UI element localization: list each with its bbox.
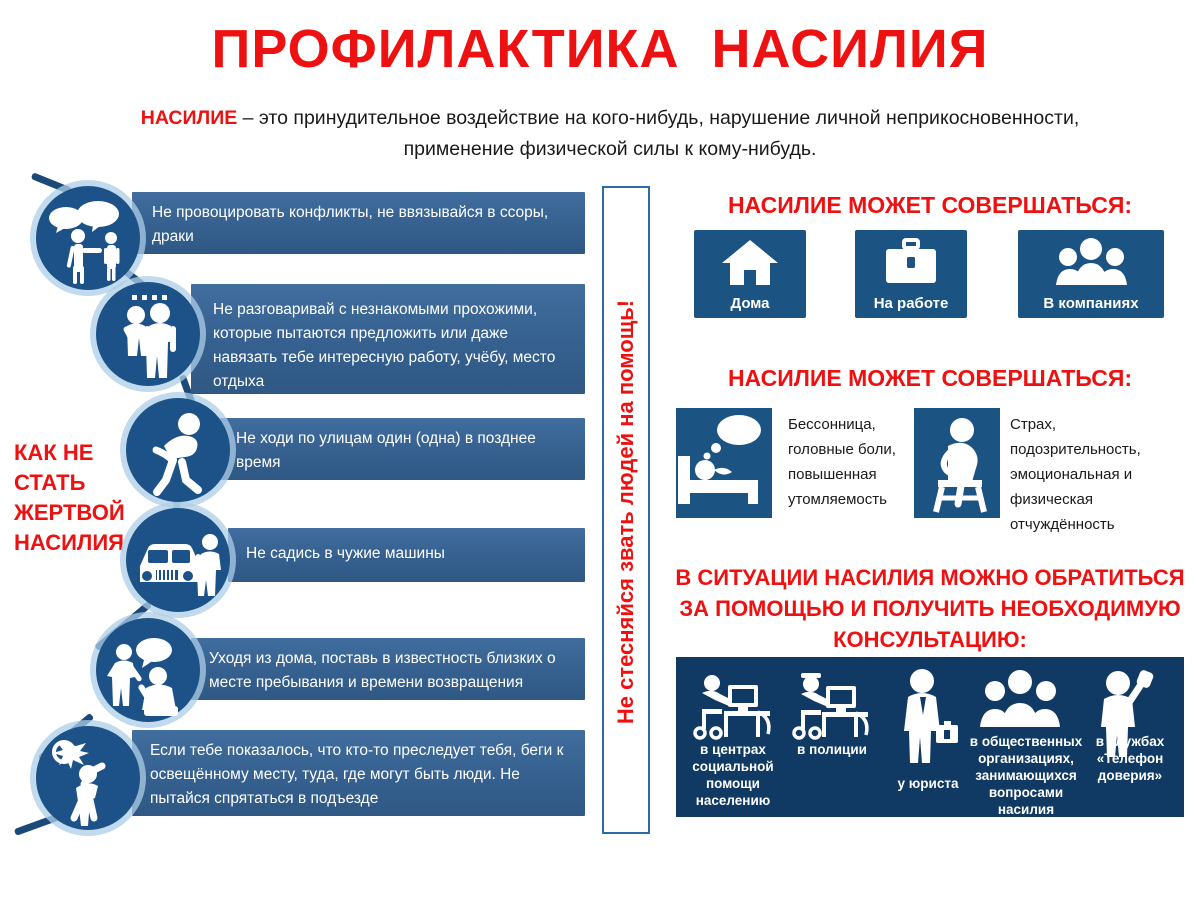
step-text-5: Уходя из дома, поставь в известность бли…: [209, 647, 571, 695]
help-label-social-center: в центрах социальной помощи населению: [682, 741, 784, 809]
step-text-1: Не провоцировать конфликты, не ввязывайс…: [152, 201, 571, 249]
help-channels-panel: в центрах социальной помощи населению в: [676, 657, 1184, 817]
intro-paragraph: НАСИЛИЕ – это принудительное воздействие…: [120, 103, 1100, 165]
night-walk-icon: [126, 398, 230, 502]
place-label-company: В компаниях: [1018, 295, 1164, 312]
step-text-2: Не разговаривай с незнакомыми прохожими,…: [213, 298, 571, 394]
place-label-home: Дома: [694, 295, 806, 312]
step-text-4: Не садись в чужие машины: [246, 542, 571, 566]
police-icon: [788, 671, 872, 746]
insomnia-icon: [676, 408, 772, 518]
step-circle-5: [96, 618, 200, 722]
step-circle-4: [126, 508, 230, 612]
vertical-callout-box: Не стесняйся звать людей на помощь!: [602, 186, 650, 834]
symptom-text-2: Страх, подозрительность, эмоциональная и…: [1010, 412, 1160, 537]
help-label-police: в полиции: [784, 741, 880, 758]
intro-text: – это принудительное воздействие на кого…: [237, 107, 1079, 160]
place-label-work: На работе: [855, 295, 967, 312]
home-icon: [694, 236, 806, 288]
step-circle-3: [126, 398, 230, 502]
step-text-6: Если тебе показалось, что кто-то преслед…: [150, 739, 571, 811]
left-section-caption: КАК НЕ СТАТЬ ЖЕРТВОЙ НАСИЛИЯ: [14, 438, 144, 558]
page-title: ПРОФИЛАКТИКА НАСИЛИЯ: [0, 18, 1200, 80]
place-tile-home: Дома: [694, 230, 806, 318]
step-text-3: Не ходи по улицам один (одна) в позднее …: [236, 427, 571, 475]
symptoms-heading: НАСИЛИЕ МОЖЕТ СОВЕРШАТЬСЯ:: [676, 363, 1184, 393]
places-heading: НАСИЛИЕ МОЖЕТ СОВЕРШАТЬСЯ:: [676, 190, 1184, 220]
step-circle-1: [36, 186, 140, 290]
step-bar-2: Не разговаривай с незнакомыми прохожими,…: [191, 284, 585, 394]
step-bar-5: Уходя из дома, поставь в известность бли…: [191, 638, 585, 700]
conflict-icon: [36, 186, 140, 290]
help-label-lawyer: у юриста: [882, 775, 974, 792]
step-circle-6: [36, 726, 140, 830]
briefcase-icon: [855, 236, 967, 288]
help-heading: В СИТУАЦИИ НАСИЛИЯ МОЖНО ОБРАТИТЬСЯ ЗА П…: [672, 562, 1188, 655]
intro-keyword: НАСИЛИЕ: [141, 107, 237, 129]
vertical-callout-text: Не стесняйся звать людей на помощь!: [604, 188, 648, 836]
social-center-icon: [690, 671, 776, 746]
lawyer-icon: [892, 667, 962, 776]
help-label-ngo: в общественных организациях, занимающихс…: [968, 733, 1084, 817]
step-bar-6: Если тебе показалось, что кто-то преслед…: [132, 730, 585, 816]
place-tile-work: На работе: [855, 230, 967, 318]
fear-icon: [914, 408, 1000, 518]
step-bar-1: Не провоцировать конфликты, не ввязывайс…: [132, 192, 585, 254]
leaving-home-icon: [96, 618, 200, 722]
group-icon: [1018, 236, 1164, 288]
step-circle-2: [96, 282, 200, 386]
running-away-icon: [36, 726, 140, 830]
symptom-text-1: Бессонница, головные боли, повышенная ут…: [788, 412, 904, 512]
car-icon: [126, 508, 230, 612]
step-bar-4: Не садись в чужие машины: [228, 528, 585, 582]
infographic-poster: ПРОФИЛАКТИКА НАСИЛИЯ НАСИЛИЕ – это прину…: [0, 0, 1200, 900]
place-tile-company: В компаниях: [1018, 230, 1164, 318]
strangers-icon: [96, 282, 200, 386]
ngo-icon: [976, 669, 1064, 734]
help-label-hotline: в службах «Телефон доверия»: [1080, 733, 1180, 784]
step-bar-3: Не ходи по улицам один (одна) в позднее …: [218, 418, 585, 480]
